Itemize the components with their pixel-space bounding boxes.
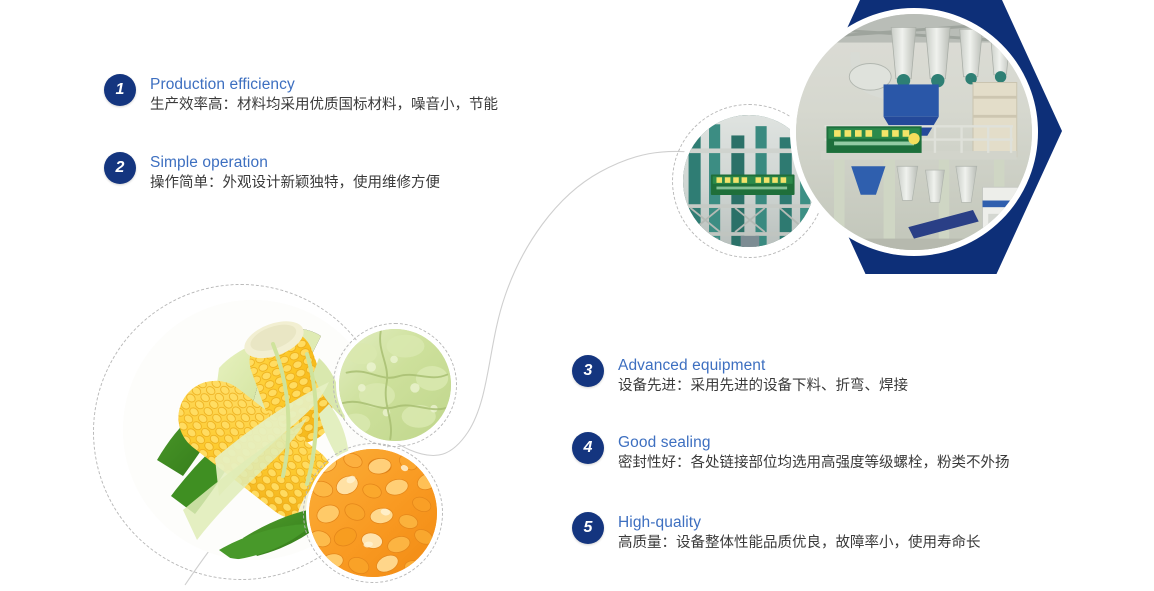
feature-item-5[interactable]: 5 High-quality 高质量：设备整体性能品质优良，故障率小，使用寿命长 xyxy=(572,512,981,554)
feature-title-cn-3: 设备先进：采用先进的设备下料、折弯、焊接 xyxy=(618,376,908,397)
feature-title-en-4: Good sealing xyxy=(618,433,1010,452)
feature-item-2[interactable]: 2 Simple operation 操作简单：外观设计新颖独特，使用维修方便 xyxy=(104,152,440,194)
feature-infographic-page: 1 Production efficiency 生产效率高：材料均采用优质国标材… xyxy=(0,0,1154,591)
feature-text-3: Advanced equipment 设备先进：采用先进的设备下料、折弯、焊接 xyxy=(618,355,908,397)
corn-paste-photo xyxy=(336,326,454,444)
plant-large-photo xyxy=(790,8,1038,256)
corn-grits-photo xyxy=(306,446,440,580)
feature-badge-2: 2 xyxy=(104,152,136,184)
feature-text-2: Simple operation 操作简单：外观设计新颖独特，使用维修方便 xyxy=(150,152,440,194)
feature-badge-5: 5 xyxy=(572,512,604,544)
feature-title-en-2: Simple operation xyxy=(150,153,440,172)
feature-title-cn-2: 操作简单：外观设计新颖独特，使用维修方便 xyxy=(150,173,440,194)
feature-title-en-5: High-quality xyxy=(618,513,981,532)
feature-title-cn-1: 生产效率高：材料均采用优质国标材料，噪音小，节能 xyxy=(150,95,498,116)
feature-title-en-1: Production efficiency xyxy=(150,75,498,94)
feature-item-3[interactable]: 3 Advanced equipment 设备先进：采用先进的设备下料、折弯、焊… xyxy=(572,355,908,397)
feature-item-4[interactable]: 4 Good sealing 密封性好：各处链接部位均选用高强度等级螺栓，粉类不… xyxy=(572,432,1010,474)
feature-text-4: Good sealing 密封性好：各处链接部位均选用高强度等级螺栓，粉类不外扬 xyxy=(618,432,1010,474)
feature-badge-3: 3 xyxy=(572,355,604,387)
feature-badge-1: 1 xyxy=(104,74,136,106)
feature-badge-4: 4 xyxy=(572,432,604,464)
feature-title-en-3: Advanced equipment xyxy=(618,356,908,375)
feature-title-cn-4: 密封性好：各处链接部位均选用高强度等级螺栓，粉类不外扬 xyxy=(618,453,1010,474)
feature-item-1[interactable]: 1 Production efficiency 生产效率高：材料均采用优质国标材… xyxy=(104,74,498,116)
feature-text-5: High-quality 高质量：设备整体性能品质优良，故障率小，使用寿命长 xyxy=(618,512,981,554)
feature-title-cn-5: 高质量：设备整体性能品质优良，故障率小，使用寿命长 xyxy=(618,533,981,554)
feature-text-1: Production efficiency 生产效率高：材料均采用优质国标材料，… xyxy=(150,74,498,116)
